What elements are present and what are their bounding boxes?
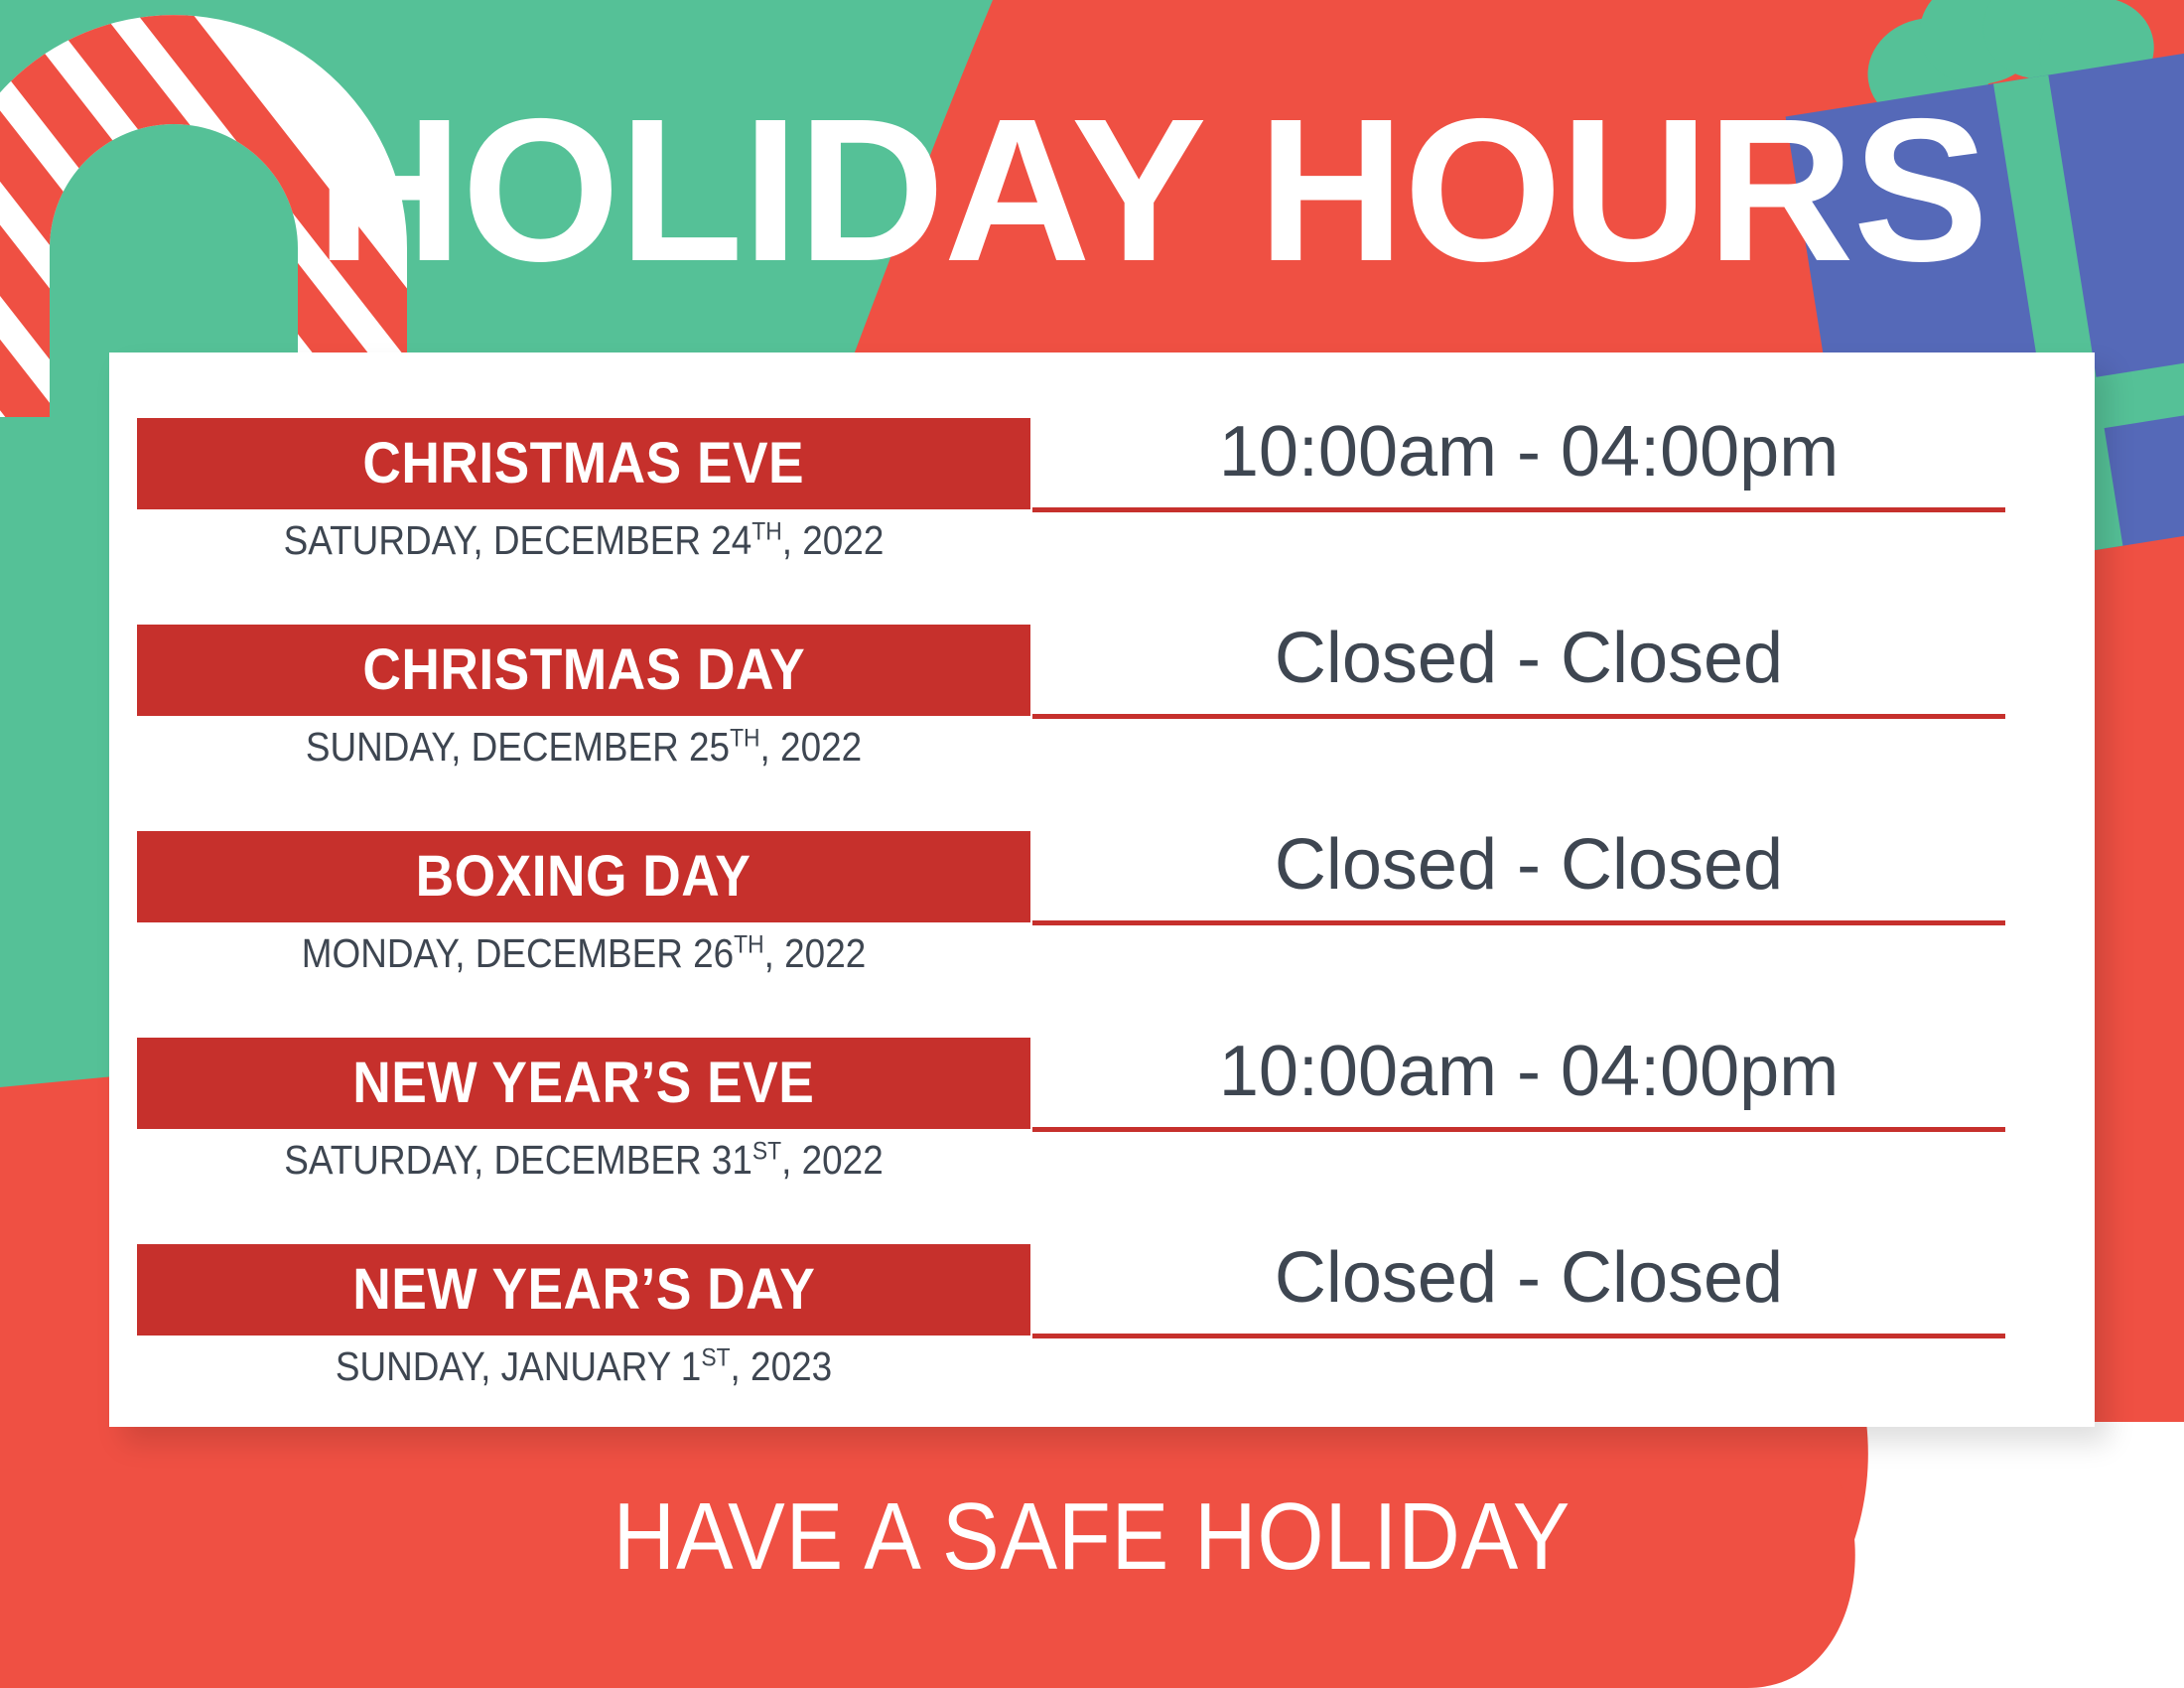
holiday-name-label: CHRISTMAS EVE (363, 433, 805, 494)
holiday-date-suffix: , 2022 (782, 517, 885, 563)
holiday-date-ordinal: ST (701, 1343, 730, 1371)
holiday-date: SATURDAY, DECEMBER 24TH, 2022 (182, 515, 986, 565)
holiday-name-bar: CHRISTMAS EVE (137, 418, 1030, 509)
holiday-date: SATURDAY, DECEMBER 31ST, 2022 (182, 1135, 986, 1185)
holiday-hours-value: 10:00am - 04:00pm (1032, 406, 2025, 497)
holiday-date: SUNDAY, DECEMBER 25TH, 2022 (182, 722, 986, 772)
hours-underline (1032, 507, 2005, 512)
holiday-name-label: NEW YEAR’S DAY (352, 1259, 815, 1321)
schedule-card: CHRISTMAS EVESATURDAY, DECEMBER 24TH, 20… (109, 352, 2095, 1427)
holiday-name-bar: CHRISTMAS DAY (137, 625, 1030, 716)
holiday-date-ordinal: TH (751, 517, 781, 545)
holiday-hours-value: Closed - Closed (1032, 613, 2025, 704)
holiday-date-prefix: MONDAY, DECEMBER 26 (302, 930, 734, 976)
holiday-date-ordinal: TH (730, 724, 759, 752)
schedule-row: NEW YEAR’S DAYSUNDAY, JANUARY 1ST, 2023C… (109, 1179, 2095, 1385)
holiday-hours-value: 10:00am - 04:00pm (1032, 1026, 2025, 1117)
schedule-rows: CHRISTMAS EVESATURDAY, DECEMBER 24TH, 20… (109, 352, 2095, 1427)
holiday-date-prefix: SUNDAY, JANUARY 1 (336, 1343, 701, 1389)
hours-underline (1032, 920, 2005, 925)
holiday-date-suffix: , 2023 (731, 1343, 833, 1389)
hours-underline (1032, 1127, 2005, 1132)
page-title: HOLIDAY HOURS (316, 91, 1944, 290)
holiday-hours-value: Closed - Closed (1032, 819, 2025, 911)
holiday-name-label: NEW YEAR’S EVE (352, 1053, 814, 1114)
holiday-hours-value: Closed - Closed (1032, 1232, 2025, 1324)
schedule-row: CHRISTMAS DAYSUNDAY, DECEMBER 25TH, 2022… (109, 559, 2095, 766)
holiday-date-ordinal: ST (752, 1137, 781, 1165)
hours-underline (1032, 714, 2005, 719)
holiday-hours-poster: HOLIDAY HOURS CHRISTMAS EVESATURDAY, DEC… (0, 0, 2184, 1688)
holiday-name-bar: NEW YEAR’S EVE (137, 1038, 1030, 1129)
holiday-date-suffix: , 2022 (781, 1137, 884, 1183)
holiday-date-prefix: SATURDAY, DECEMBER 24 (284, 517, 752, 563)
footer-message: HAVE A SAFE HOLIDAY (109, 1483, 2075, 1591)
holiday-date: MONDAY, DECEMBER 26TH, 2022 (182, 928, 986, 978)
holiday-date-prefix: SATURDAY, DECEMBER 31 (284, 1137, 752, 1183)
schedule-row: BOXING DAYMONDAY, DECEMBER 26TH, 2022Clo… (109, 766, 2095, 972)
holiday-date-prefix: SUNDAY, DECEMBER 25 (306, 724, 730, 770)
holiday-date-ordinal: TH (734, 930, 763, 958)
holiday-date: SUNDAY, JANUARY 1ST, 2023 (182, 1341, 986, 1391)
schedule-row: NEW YEAR’S EVESATURDAY, DECEMBER 31ST, 2… (109, 972, 2095, 1179)
schedule-row: CHRISTMAS EVESATURDAY, DECEMBER 24TH, 20… (109, 352, 2095, 559)
holiday-name-label: BOXING DAY (416, 846, 751, 908)
holiday-name-bar: BOXING DAY (137, 831, 1030, 922)
hours-underline (1032, 1334, 2005, 1338)
holiday-date-suffix: , 2022 (760, 724, 863, 770)
holiday-date-suffix: , 2022 (764, 930, 867, 976)
holiday-name-label: CHRISTMAS DAY (362, 639, 805, 701)
holiday-name-bar: NEW YEAR’S DAY (137, 1244, 1030, 1336)
